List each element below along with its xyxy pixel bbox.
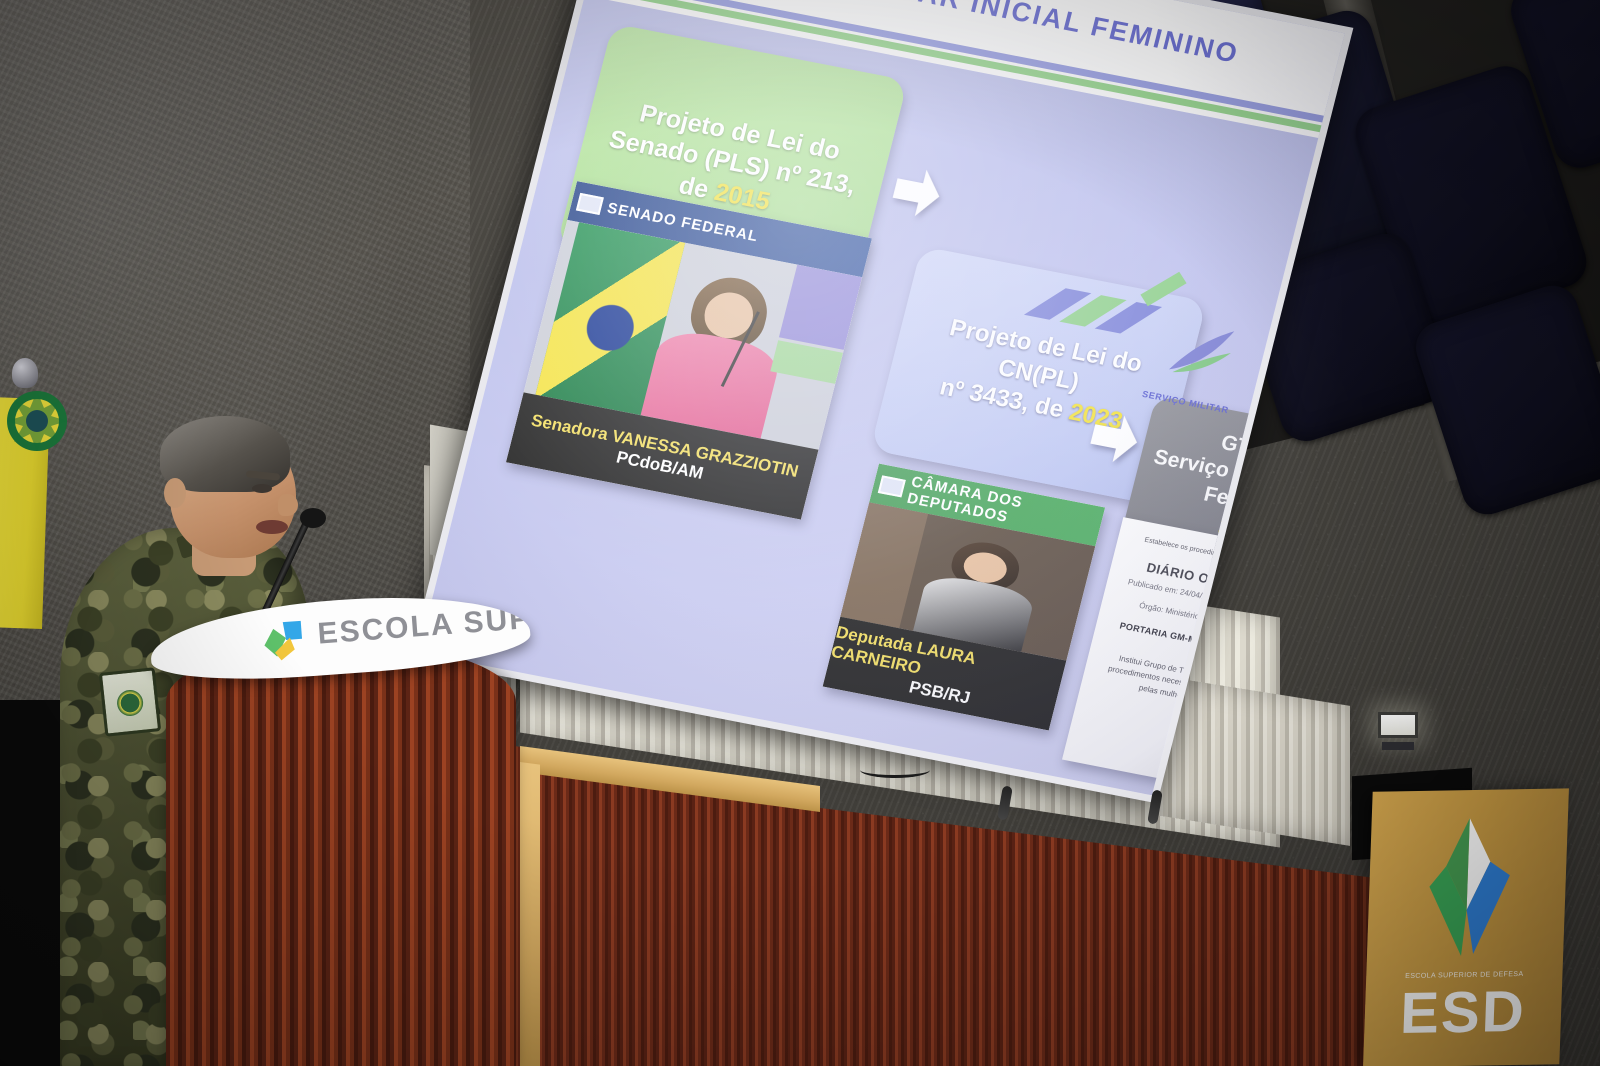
microphone-head-icon (300, 508, 326, 528)
lectern-body (166, 642, 516, 1066)
lectern: ESCOLA SUPERIOR D (150, 600, 530, 1066)
wall-light-fixture (1378, 712, 1418, 738)
arrow-right-icon (884, 160, 949, 224)
esd-panel-acronym: ESD (1364, 982, 1562, 1043)
esd-logo-icon (1417, 813, 1518, 965)
camara-emblem-icon (878, 475, 906, 497)
escola-superior-defesa-logo-icon (259, 617, 308, 664)
senado-emblem-icon (576, 193, 604, 215)
lectern-sign-text: ESCOLA SUPERIOR D (317, 592, 533, 652)
screen-frame: SERVIÇO MILITAR INICIAL FEMININO Projeto… (410, 0, 1353, 803)
cable (860, 762, 930, 778)
gt-year: 2024 (1216, 513, 1270, 547)
flagpole-finial (12, 358, 38, 388)
projection-screen: SERVIÇO MILITAR INICIAL FEMININO Projeto… (520, 0, 1280, 760)
wall-light-base (1382, 742, 1414, 750)
auditorium-photo: SERVIÇO MILITAR INICIAL FEMININO Projeto… (0, 0, 1600, 1066)
esd-side-panel: ESCOLA SUPERIOR DE DEFESA ESD (1363, 788, 1569, 1066)
camara-photo-card: CÂMARA DOS DEPUTADOS Deputada LAURA CARN… (823, 464, 1106, 731)
presentation-slide: SERVIÇO MILITAR INICIAL FEMININO Projeto… (419, 0, 1345, 795)
flag-rosette-ornament (4, 388, 70, 454)
